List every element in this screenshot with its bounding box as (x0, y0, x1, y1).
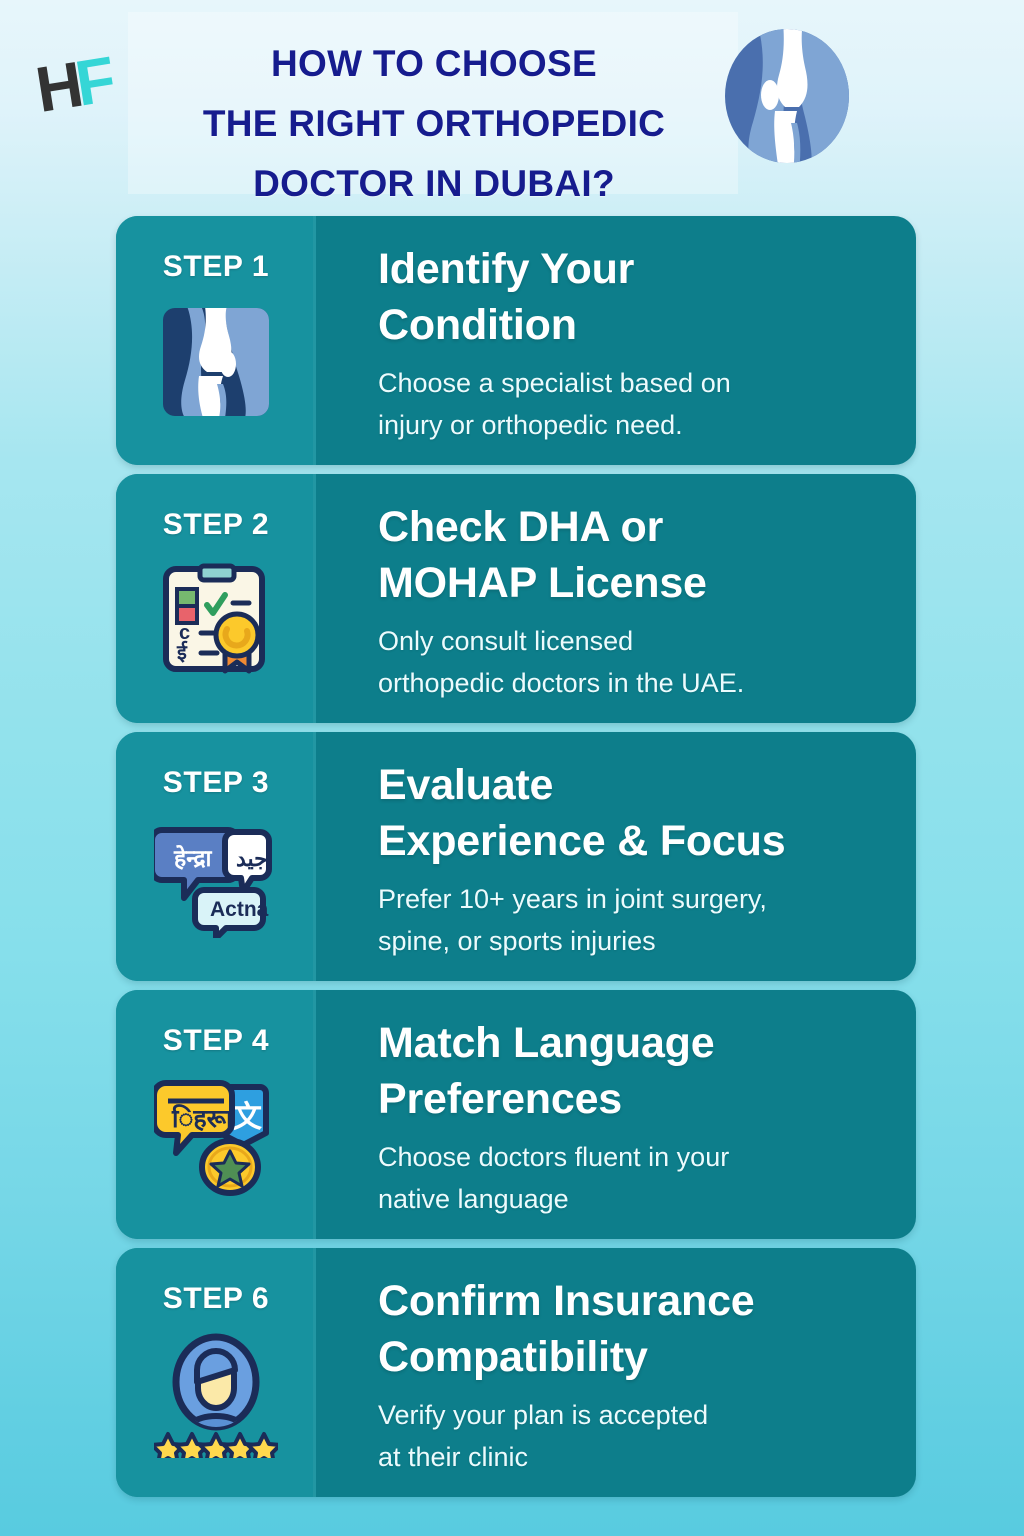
svg-text:िहरूा: िहरूा (171, 1104, 234, 1133)
step-card-4-title: Match Language Preferences (378, 1016, 890, 1128)
step-card-3-desc: Prefer 10+ years in joint surgery, spine… (378, 879, 890, 963)
step-card-4-title-line-1: Match Language (378, 1016, 890, 1072)
knee-joint-icon (723, 27, 851, 165)
step-card-2-desc: Only consult licensed orthopedic doctors… (378, 621, 890, 705)
step-card-3-title-line-1: Evaluate (378, 758, 890, 814)
step-card-2-title-line-1: Check DHA or (378, 500, 890, 556)
svg-text:c: c (179, 622, 190, 644)
speech-bubble-3-text: Actna (210, 898, 269, 921)
infographic-header: H F HOW TO CHOOSE THE RIGHT ORTHOPEDIC D… (0, 0, 1024, 205)
step-card-4-desc-line-1: Choose doctors fluent in your (378, 1137, 890, 1179)
step-card-4[interactable]: STEP 4 文 िहरूा Match Lan (116, 990, 916, 1239)
step-card-4-label: STEP 4 (116, 1024, 316, 1058)
rating-stars (154, 1434, 278, 1458)
step-card-3-desc-line-2: spine, or sports injuries (378, 921, 890, 963)
svg-text:ई: ई (176, 640, 188, 664)
step-card-2-left: STEP 2 c ई (116, 474, 316, 723)
step-card-1-title: Identify Your Condition (378, 242, 890, 354)
step-card-3-left: STEP 3 हेन्द्रा ﺟﻴﺪ Actna (116, 732, 316, 981)
step-card-6[interactable]: STEP 6 (116, 1248, 916, 1497)
step-card-1-label: STEP 1 (116, 250, 316, 284)
step-card-1-title-line-2: Condition (378, 298, 890, 354)
step-card-6-left: STEP 6 (116, 1248, 316, 1497)
knee-xray-icon (153, 298, 279, 426)
step-card-4-left: STEP 4 文 िहरूा (116, 990, 316, 1239)
page-title: HOW TO CHOOSE THE RIGHT ORTHOPEDIC DOCTO… (128, 34, 740, 214)
step-card-3[interactable]: STEP 3 हेन्द्रा ﺟﻴﺪ Actna Evaluate Expe (116, 732, 916, 981)
step-card-1-title-line-1: Identify Your (378, 242, 890, 298)
step-card-3-title: Evaluate Experience & Focus (378, 758, 890, 870)
doctor-avatar-rating-icon (153, 1330, 279, 1458)
page-title-line-3: DOCTOR IN DUBAI? (128, 154, 740, 214)
step-card-3-right: Evaluate Experience & Focus Prefer 10+ y… (316, 732, 916, 981)
step-card-2[interactable]: STEP 2 c ई (116, 474, 916, 723)
step-card-1-left: STEP 1 (116, 216, 316, 465)
page-title-line-2: THE RIGHT ORTHOPEDIC (128, 94, 740, 154)
speech-bubbles-languages-icon: हेन्द्रा ﺟﻴﺪ Actna (153, 814, 279, 942)
step-card-1-right: Identify Your Condition Choose a special… (316, 216, 916, 465)
step-card-6-right: Confirm Insurance Compatibility Verify y… (316, 1248, 916, 1497)
step-card-6-label: STEP 6 (116, 1282, 316, 1316)
step-card-6-desc-line-2: at their clinic (378, 1437, 890, 1479)
svg-text:文: 文 (232, 1100, 262, 1134)
steps-list: STEP 1 Identify Your (116, 216, 916, 1506)
license-certificate-icon: c ई (153, 556, 279, 684)
step-card-6-title-line-2: Compatibility (378, 1330, 890, 1386)
step-card-6-desc-line-1: Verify your plan is accepted (378, 1395, 890, 1437)
step-card-2-desc-line-2: orthopedic doctors in the UAE. (378, 663, 890, 705)
step-card-1-desc-line-1: Choose a specialist based on (378, 363, 890, 405)
step-card-4-desc: Choose doctors fluent in your native lan… (378, 1137, 890, 1221)
step-card-6-desc: Verify your plan is accepted at their cl… (378, 1395, 890, 1479)
step-card-2-label: STEP 2 (116, 508, 316, 542)
speech-bubble-2-text: ﺟﻴﺪ (236, 846, 268, 871)
step-card-2-desc-line-1: Only consult licensed (378, 621, 890, 663)
step-card-2-title-line-2: MOHAP License (378, 556, 890, 612)
step-card-3-title-line-2: Experience & Focus (378, 814, 890, 870)
page-title-line-1: HOW TO CHOOSE (128, 34, 740, 94)
step-card-6-title: Confirm Insurance Compatibility (378, 1274, 890, 1386)
speech-bubble-1-text: हेन्द्रा (173, 844, 213, 871)
step-card-3-label: STEP 3 (116, 766, 316, 800)
step-card-1-desc-line-2: injury or orthopedic need. (378, 405, 890, 447)
step-card-4-title-line-2: Preferences (378, 1072, 890, 1128)
step-card-1-desc: Choose a specialist based on injury or o… (378, 363, 890, 447)
step-card-3-desc-line-1: Prefer 10+ years in joint surgery, (378, 879, 890, 921)
step-card-1[interactable]: STEP 1 Identify Your (116, 216, 916, 465)
step-card-4-desc-line-2: native language (378, 1179, 890, 1221)
translate-language-medal-icon: 文 िहरूा (153, 1072, 279, 1200)
step-card-4-right: Match Language Preferences Choose doctor… (316, 990, 916, 1239)
step-card-2-title: Check DHA or MOHAP License (378, 500, 890, 612)
step-card-2-right: Check DHA or MOHAP License Only consult … (316, 474, 916, 723)
step-card-6-title-line-1: Confirm Insurance (378, 1274, 890, 1330)
